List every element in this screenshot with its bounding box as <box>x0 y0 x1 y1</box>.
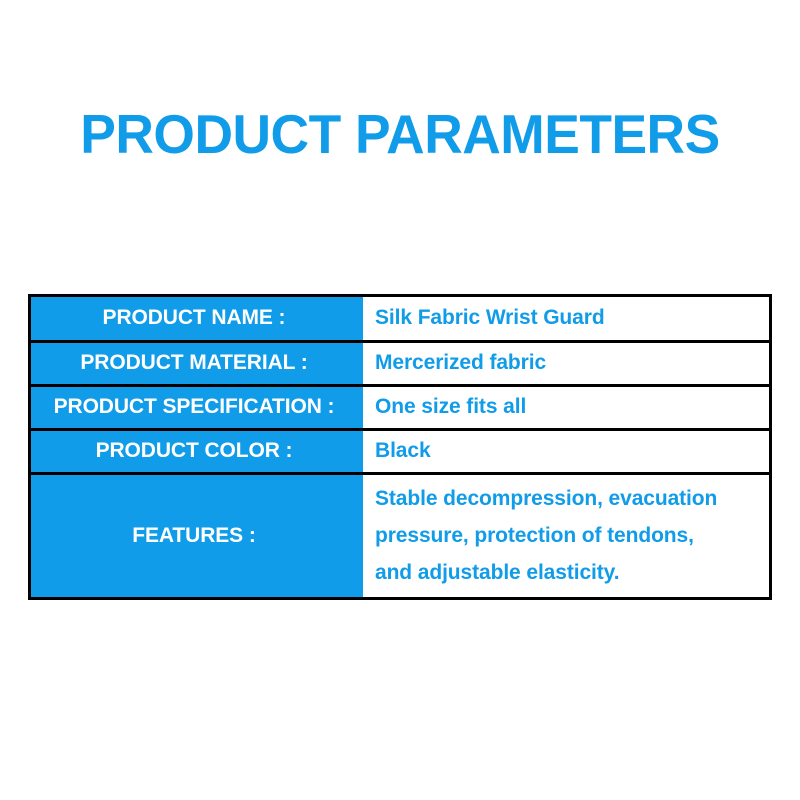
spec-label-features: FEATURES : <box>31 473 363 597</box>
feature-line: Stable decompression, evacuation <box>375 480 759 517</box>
spec-value-product-material: Mercerized fabric <box>363 341 769 385</box>
spec-value-product-color: Black <box>363 429 769 473</box>
table-row-features: FEATURES : Stable decompression, evacuat… <box>31 473 769 597</box>
spec-table-grid: PRODUCT NAME : Silk Fabric Wrist Guard P… <box>31 297 769 597</box>
product-spec-table: PRODUCT NAME : Silk Fabric Wrist Guard P… <box>28 294 772 600</box>
spec-value-features: Stable decompression, evacuation pressur… <box>363 473 769 597</box>
spec-value-product-specification: One size fits all <box>363 385 769 429</box>
spec-label-product-specification: PRODUCT SPECIFICATION : <box>31 385 363 429</box>
feature-line: and adjustable elasticity. <box>375 554 759 591</box>
feature-line: pressure, protection of tendons, <box>375 517 759 554</box>
product-parameters-page: PRODUCT PARAMETERS PRODUCT NAME : Silk F… <box>0 0 800 800</box>
spec-value-product-name: Silk Fabric Wrist Guard <box>363 297 769 341</box>
table-row-product-specification: PRODUCT SPECIFICATION : One size fits al… <box>31 385 769 429</box>
table-row-product-color: PRODUCT COLOR : Black <box>31 429 769 473</box>
table-row-product-name: PRODUCT NAME : Silk Fabric Wrist Guard <box>31 297 769 341</box>
page-title: PRODUCT PARAMETERS <box>12 104 788 164</box>
feature-line-list: Stable decompression, evacuation pressur… <box>375 480 759 591</box>
spec-label-product-name: PRODUCT NAME : <box>31 297 363 341</box>
spec-label-product-material: PRODUCT MATERIAL : <box>31 341 363 385</box>
spec-label-product-color: PRODUCT COLOR : <box>31 429 363 473</box>
table-row-product-material: PRODUCT MATERIAL : Mercerized fabric <box>31 341 769 385</box>
